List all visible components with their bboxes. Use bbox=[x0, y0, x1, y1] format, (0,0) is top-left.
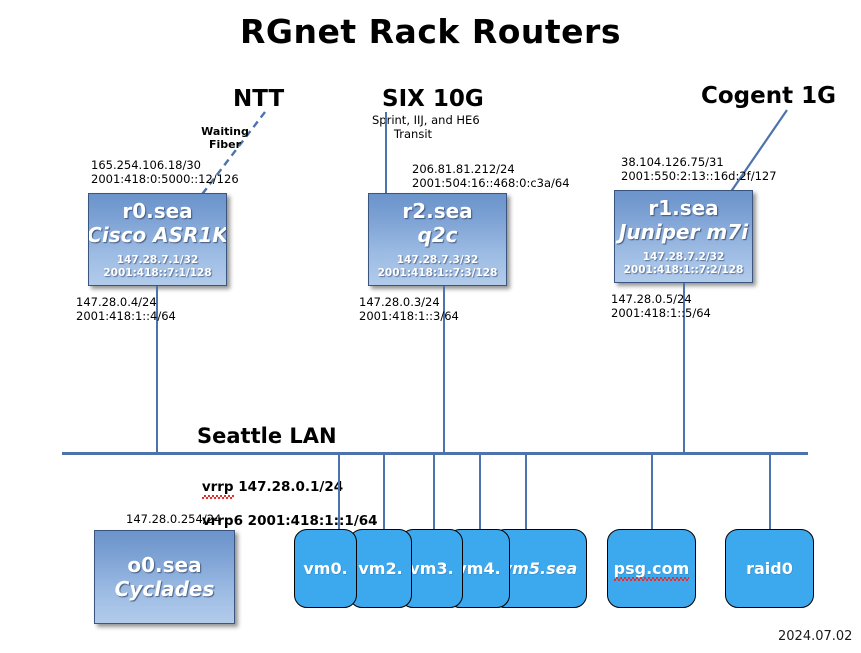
vm0-drop-line bbox=[338, 454, 340, 529]
router-loopbacks-r2: 147.28.7.3/32 2001:418:1::7:3/128 bbox=[378, 254, 498, 280]
host-box-raid0[interactable]: raid0 bbox=[725, 529, 814, 608]
vm5-drop-line bbox=[525, 454, 527, 529]
console-address: 147.28.0.254/24 bbox=[126, 512, 221, 526]
vrrp-address: 147.28.0.1/24 bbox=[234, 479, 344, 495]
cogent-uplink-line bbox=[728, 110, 787, 196]
six-addresses: 206.81.81.212/24 2001:504:16::468:0:c3a/… bbox=[412, 162, 570, 190]
host-label-vm3: vm3. bbox=[409, 559, 453, 578]
cogent-addresses: 38.104.126.75/31 2001:550:2:13::16d:2f/1… bbox=[621, 155, 777, 183]
host-box-vm2[interactable]: vm2. bbox=[349, 529, 412, 608]
host-box-psg[interactable]: psg.com bbox=[607, 529, 696, 608]
vrrp6-line: vrrp6 2001:418:1::1/64 bbox=[202, 513, 378, 529]
vm3-drop-line bbox=[433, 454, 435, 529]
ntt-waiting-note: Waiting Fiber bbox=[190, 125, 260, 151]
router-model-r1: Juniper m7i bbox=[619, 220, 748, 244]
uplink-label-ntt: NTT bbox=[233, 86, 284, 112]
router-loopbacks-r0: 147.28.7.1/32 2001:418::7:1/128 bbox=[103, 254, 211, 280]
router-hostname-r1: r1.sea bbox=[648, 196, 718, 220]
console-hostname: o0.sea bbox=[127, 553, 201, 577]
psg-drop-line bbox=[651, 454, 653, 529]
r0-lan-addresses: 147.28.0.4/24 2001:418:1::4/64 bbox=[76, 295, 176, 323]
host-label-raid0: raid0 bbox=[746, 559, 793, 578]
vm2-drop-line bbox=[383, 454, 385, 529]
six-uplink-line bbox=[385, 112, 387, 198]
console-model: Cyclades bbox=[115, 577, 215, 601]
r2-lan-addresses: 147.28.0.3/24 2001:418:1::3/64 bbox=[359, 295, 459, 323]
uplink-label-cogent: Cogent 1G bbox=[701, 83, 836, 109]
page-title: RGnet Rack Routers bbox=[0, 12, 861, 51]
console-box-o0[interactable]: o0.sea Cyclades bbox=[94, 530, 235, 624]
host-label-psg: psg.com bbox=[614, 559, 690, 578]
raid0-drop-line bbox=[769, 454, 771, 529]
router-box-r0[interactable]: r0.sea Cisco ASR1K 147.28.7.1/32 2001:41… bbox=[88, 193, 227, 286]
router-model-r2: q2c bbox=[417, 223, 457, 247]
uplink-label-six: SIX 10G bbox=[382, 86, 484, 112]
vm4-drop-line bbox=[479, 454, 481, 529]
router-box-r2[interactable]: r2.sea q2c 147.28.7.3/32 2001:418:1::7:3… bbox=[368, 193, 507, 286]
ntt-addresses: 165.254.106.18/30 2001:418:0:5000::12/12… bbox=[91, 158, 239, 186]
r1-lan-addresses: 147.28.0.5/24 2001:418:1::5/64 bbox=[611, 292, 711, 320]
router-hostname-r2: r2.sea bbox=[402, 199, 472, 223]
host-label-vm2: vm2. bbox=[358, 559, 402, 578]
router-box-r1[interactable]: r1.sea Juniper m7i 147.28.7.2/32 2001:41… bbox=[614, 190, 753, 283]
lan-title: Seattle LAN bbox=[197, 424, 337, 448]
host-box-vm0[interactable]: vm0. bbox=[294, 529, 357, 608]
host-label-vm5: vm5.sea bbox=[502, 559, 577, 578]
router-hostname-r0: r0.sea bbox=[122, 199, 192, 223]
diagram-canvas: RGnet Rack Routers NTT Waiting Fiber 165… bbox=[0, 0, 861, 653]
router-loopbacks-r1: 147.28.7.2/32 2001:418:1::7:2/128 bbox=[624, 251, 744, 277]
vrrp-keyword: vrrp bbox=[202, 479, 234, 496]
date-stamp: 2024.07.02 bbox=[778, 629, 852, 644]
seattle-lan-bus bbox=[62, 452, 808, 455]
vrrp-line-1: vrrp 147.28.0.1/24 bbox=[202, 479, 343, 495]
router-model-r0: Cisco ASR1K bbox=[88, 223, 227, 247]
six-transit-note: Sprint, IIJ, and HE6 Transit bbox=[372, 113, 480, 141]
host-label-vm0: vm0. bbox=[303, 559, 347, 578]
